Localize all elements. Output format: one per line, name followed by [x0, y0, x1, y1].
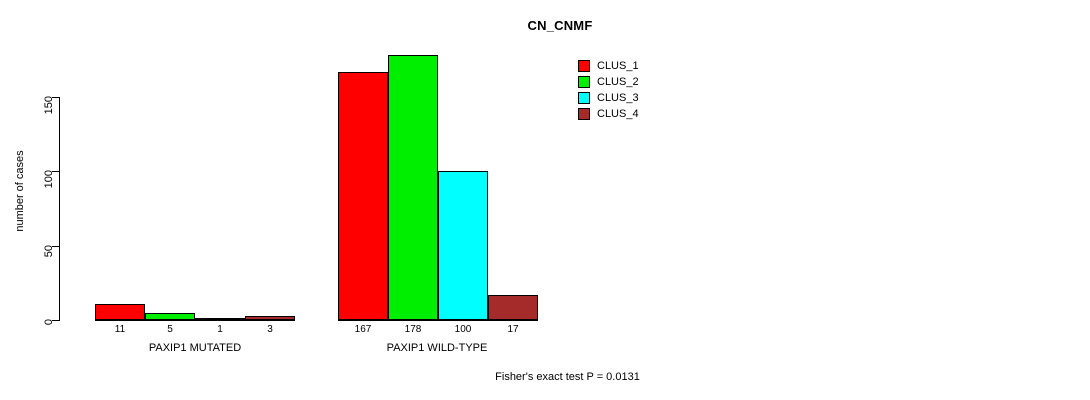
legend-item-clus_4: CLUS_4	[578, 106, 639, 121]
legend-color-swatch	[578, 108, 590, 120]
y-axis-tick-label: 0	[43, 319, 55, 341]
y-axis-line	[59, 97, 60, 321]
group-baseline	[338, 320, 538, 321]
bar-wildtype-clus_2	[388, 55, 438, 320]
bar-value-label: 100	[438, 324, 488, 335]
legend-item-label: CLUS_3	[597, 92, 639, 104]
barplot-figure: CN_CNMF number of cases 050100150 115131…	[0, 0, 1090, 400]
group-label-wildtype: PAXIP1 WILD-TYPE	[357, 342, 517, 354]
bar-mutated-clus_2	[145, 313, 195, 320]
legend-color-swatch	[578, 60, 590, 72]
bar-mutated-clus_4	[245, 316, 295, 320]
legend-item-label: CLUS_1	[597, 60, 639, 72]
legend-item-label: CLUS_4	[597, 108, 639, 120]
statistical-test-annotation: Fisher's exact test P = 0.0131	[0, 371, 1090, 383]
bar-value-label: 11	[95, 324, 145, 335]
bar-wildtype-clus_4	[488, 295, 538, 320]
legend-item-clus_2: CLUS_2	[578, 74, 639, 89]
legend-item-clus_1: CLUS_1	[578, 58, 639, 73]
legend: CLUS_1CLUS_2CLUS_3CLUS_4	[578, 58, 639, 122]
bar-value-label: 178	[388, 324, 438, 335]
legend-item-clus_3: CLUS_3	[578, 90, 639, 105]
y-axis-tick-label: 150	[43, 96, 55, 118]
bar-value-label: 167	[338, 324, 388, 335]
bar-value-label: 17	[488, 324, 538, 335]
group-label-mutated: PAXIP1 MUTATED	[115, 342, 275, 354]
y-axis-tick-label: 100	[43, 170, 55, 192]
legend-item-label: CLUS_2	[597, 76, 639, 88]
bar-wildtype-clus_3	[438, 171, 488, 320]
bar-wildtype-clus_1	[338, 72, 388, 320]
y-axis-label: number of cases	[14, 131, 26, 251]
chart-title: CN_CNMF	[5, 18, 1090, 33]
bar-value-label: 5	[145, 324, 195, 335]
bar-value-label: 1	[195, 324, 245, 335]
group-baseline	[95, 320, 295, 321]
bar-value-label: 3	[245, 324, 295, 335]
y-axis-tick-label: 50	[43, 245, 55, 267]
legend-color-swatch	[578, 76, 590, 88]
bar-mutated-clus_3	[195, 318, 245, 320]
bar-mutated-clus_1	[95, 304, 145, 320]
legend-color-swatch	[578, 92, 590, 104]
